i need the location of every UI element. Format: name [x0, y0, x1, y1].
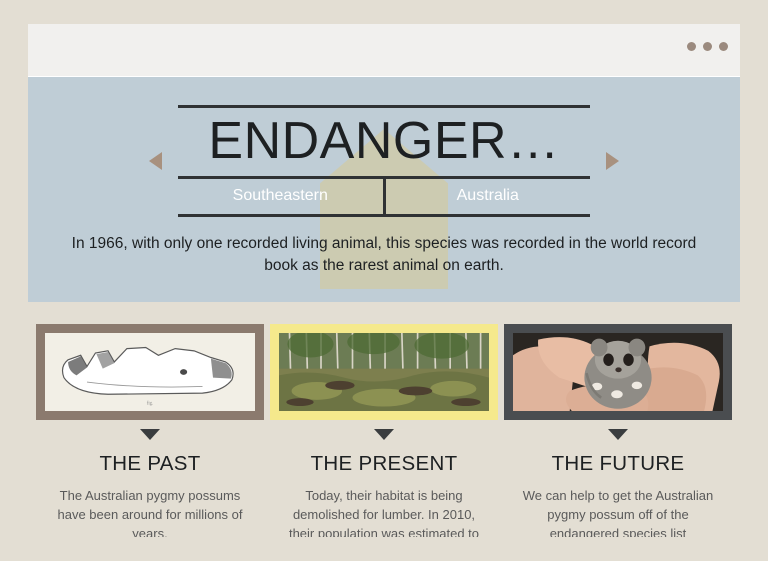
card-title: THE PAST [99, 452, 200, 476]
card-text: The Australian pygmy possums have been a… [48, 487, 253, 537]
card-frame: fig. [36, 324, 264, 420]
prev-arrow-icon[interactable] [149, 152, 162, 170]
window-dot-2[interactable] [703, 42, 712, 51]
window-dot-1[interactable] [687, 42, 696, 51]
hero-caption: In 1966, with only one recorded living a… [59, 233, 709, 277]
card-title: THE PRESENT [311, 452, 458, 476]
window-controls[interactable] [687, 42, 728, 51]
subtitle-country: Australia [386, 179, 591, 214]
subtitle-row: Southeastern Australia [178, 179, 590, 214]
title-rule-bottom [178, 214, 590, 217]
card-frame [504, 324, 732, 420]
browser-window: ENDANGER… Southeastern Australia In 1966… [28, 24, 740, 537]
window-dot-3[interactable] [719, 42, 728, 51]
hero-banner: ENDANGER… Southeastern Australia In 1966… [28, 77, 740, 302]
svg-text:fig.: fig. [147, 401, 153, 406]
card-text: We can help to get the Australian pygmy … [516, 487, 721, 537]
card-present: THE PRESENT Today, their habitat is bein… [270, 324, 498, 537]
title-block: ENDANGER… Southeastern Australia [178, 105, 590, 217]
card-pointer-icon [374, 429, 394, 440]
browser-chrome [28, 24, 740, 77]
next-arrow-icon[interactable] [606, 152, 619, 170]
card-past: fig. THE PAST The Australian pygmy possu… [36, 324, 264, 537]
card-title: THE FUTURE [552, 452, 685, 476]
subtitle-region: Southeastern [178, 179, 383, 214]
card-frame [270, 324, 498, 420]
cleared-forest-photo [279, 333, 489, 411]
cards-section: fig. THE PAST The Australian pygmy possu… [28, 302, 740, 537]
card-text: Today, their habitat is being demolished… [282, 487, 487, 537]
possum-jaw-sketch: fig. [45, 333, 255, 411]
possum-in-hand-photo [513, 333, 723, 411]
title-row: ENDANGER… Southeastern Australia [28, 105, 740, 217]
card-future: THE FUTURE We can help to get the Austra… [504, 324, 732, 537]
card-pointer-icon [140, 429, 160, 440]
page-title: ENDANGER… [178, 108, 590, 176]
card-pointer-icon [608, 429, 628, 440]
